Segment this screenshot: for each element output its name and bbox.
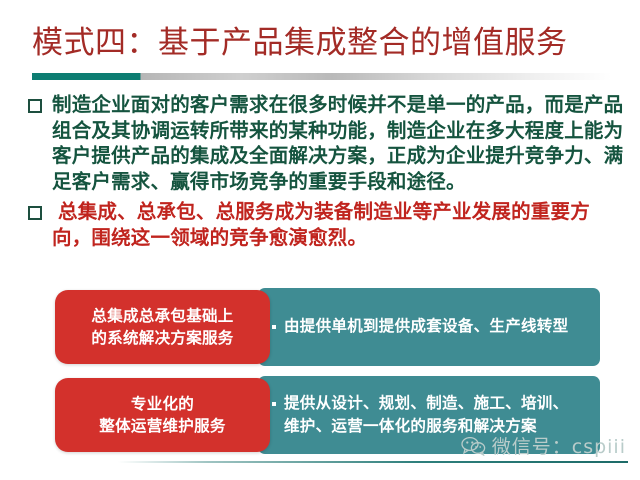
title-block: 模式四：基于产品集成整合的增值服务 — [32, 26, 622, 60]
detail-panel: 由提供单机到提供成套设备、生产线转型 — [258, 288, 600, 366]
category-box: 专业化的 整体运营维护服务 — [55, 378, 270, 452]
bullet-item: 总集成、总承包、总服务成为装备制造业等产业发展的重要方向，围绕这一领域的竞争愈演… — [28, 199, 628, 250]
detail-text: 由提供单机到提供成套设备、生产线转型 — [284, 315, 568, 338]
category-box: 总集成总承包基础上 的系统解决方案服务 — [55, 290, 270, 364]
footer-rule — [118, 461, 628, 463]
bullet-item: 制造企业面对的客户需求在很多时候并不是单一的产品，而是产品组合及其协调运转所带来… — [28, 92, 628, 195]
category-label-line: 整体运营维护服务 — [99, 415, 225, 437]
slide-canvas: 模式四：基于产品集成整合的增值服务 制造企业面对的客户需求在很多时候并不是单一的… — [0, 0, 640, 480]
title-underline-rule — [32, 73, 612, 80]
bullet-text: 制造企业面对的客户需求在很多时候并不是单一的产品，而是产品组合及其协调运转所带来… — [52, 92, 628, 195]
bullet-dot-icon — [272, 325, 276, 329]
bullet-text: 总集成、总承包、总服务成为装备制造业等产业发展的重要方向，围绕这一领域的竞争愈演… — [52, 199, 628, 250]
wechat-icon — [461, 436, 487, 456]
page-title: 模式四：基于产品集成整合的增值服务 — [32, 26, 622, 60]
detail-text: 提供从设计、规划、制造、施工、培训、 — [284, 394, 568, 412]
hollow-square-icon — [28, 206, 42, 220]
bullet-list: 制造企业面对的客户需求在很多时候并不是单一的产品，而是产品组合及其协调运转所带来… — [28, 92, 628, 254]
category-label-line: 总集成总承包基础上 — [91, 305, 233, 327]
watermark: 微信号：cspiii — [461, 432, 626, 459]
watermark-text: 微信号：cspiii — [492, 432, 626, 459]
category-label-line: 的系统解决方案服务 — [91, 327, 233, 349]
detail-panel-inner: 由提供单机到提供成套设备、生产线转型 — [272, 315, 568, 338]
bullet-dot-icon — [272, 402, 276, 406]
hollow-square-icon — [28, 99, 42, 113]
matrix-row: 由提供单机到提供成套设备、生产线转型 总集成总承包基础上 的系统解决方案服务 — [0, 288, 640, 366]
category-label-line: 专业化的 — [131, 393, 194, 415]
